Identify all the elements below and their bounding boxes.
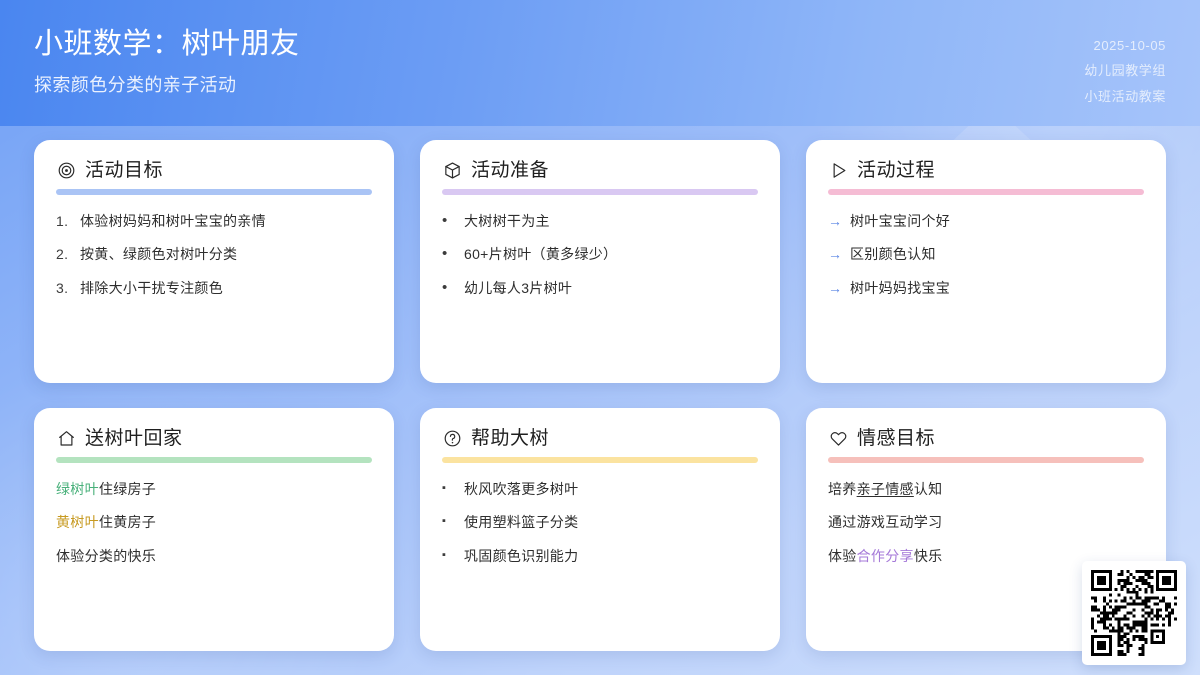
text-segment-plain: 区别颜色认知 xyxy=(850,246,936,262)
card-header: 送树叶回家 xyxy=(56,428,372,448)
text-segment-plain: 按黄、绿颜色对树叶分类 xyxy=(80,246,237,262)
list-item-marker: • xyxy=(442,244,457,264)
card-accent-rule xyxy=(828,457,1144,463)
list-item: ▪巩固颜色识别能力 xyxy=(442,546,758,566)
text-segment-plain: 排除大小干扰专注颜色 xyxy=(80,280,223,296)
text-segment-plain: 体验树妈妈和树叶宝宝的亲情 xyxy=(80,213,266,229)
text-segment-plain: 体验分类的快乐 xyxy=(56,548,156,564)
page-subtitle: 探索颜色分类的亲子活动 xyxy=(34,71,300,97)
card-accent-rule xyxy=(442,189,758,195)
text-segment-plain: 使用塑料篮子分类 xyxy=(464,514,578,530)
list-item: →区别颜色认知 xyxy=(828,244,1144,264)
card-title: 活动准备 xyxy=(471,161,549,180)
card-body: 1.体验树妈妈和树叶宝宝的亲情2.按黄、绿颜色对树叶分类3.排除大小干扰专注颜色 xyxy=(56,211,372,298)
card-title: 帮助大树 xyxy=(471,429,549,448)
card-accent-rule xyxy=(56,457,372,463)
list-item-marker: 1. xyxy=(56,211,73,231)
header-meta-block: 2025-10-05 幼儿园教学组 小班活动教案 xyxy=(1084,26,1166,105)
qr-code-icon xyxy=(1091,570,1177,656)
qr-code-container[interactable] xyxy=(1082,561,1186,665)
list-item-text: 幼儿每人3片树叶 xyxy=(464,278,758,298)
list-item-text: 60+片树叶（黄多绿少） xyxy=(464,244,758,264)
list-item-text: 体验分类的快乐 xyxy=(56,546,372,566)
list-item: ▪秋风吹落更多树叶 xyxy=(442,479,758,499)
meta-organization: 幼儿园教学组 xyxy=(1084,60,1166,79)
card-title: 情感目标 xyxy=(857,429,935,448)
text-segment-amber: 黄树叶 xyxy=(56,514,99,530)
list-item: 1.体验树妈妈和树叶宝宝的亲情 xyxy=(56,211,372,231)
card-accent-rule xyxy=(442,457,758,463)
card-header: 帮助大树 xyxy=(442,428,758,448)
list-item: ▪使用塑料篮子分类 xyxy=(442,512,758,532)
list-item: →树叶妈妈找宝宝 xyxy=(828,278,1144,298)
text-segment-plain: 60+片树叶（黄多绿少） xyxy=(464,246,617,262)
card-activity-goals: 活动目标1.体验树妈妈和树叶宝宝的亲情2.按黄、绿颜色对树叶分类3.排除大小干扰… xyxy=(34,140,394,383)
list-item-marker: • xyxy=(442,211,457,231)
text-segment-plain: 树叶妈妈找宝宝 xyxy=(850,280,950,296)
list-item: 黄树叶住黄房子 xyxy=(56,512,372,532)
text-segment-purple: 合作分享 xyxy=(857,548,914,564)
header-title-block: 小班数学：树叶朋友 探索颜色分类的亲子活动 xyxy=(34,26,300,97)
card-title: 送树叶回家 xyxy=(85,429,183,448)
list-item-marker: ▪ xyxy=(442,512,457,531)
card-body: ▪秋风吹落更多树叶▪使用塑料篮子分类▪巩固颜色识别能力 xyxy=(442,479,758,566)
box-icon xyxy=(442,160,462,180)
card-activity-prep: 活动准备•大树树干为主•60+片树叶（黄多绿少）•幼儿每人3片树叶 xyxy=(420,140,780,383)
list-item-text: 绿树叶住绿房子 xyxy=(56,479,372,499)
card-body: →树叶宝宝问个好→区别颜色认知→树叶妈妈找宝宝 xyxy=(828,211,1144,298)
list-item-marker: 3. xyxy=(56,278,73,298)
target-icon xyxy=(56,160,76,180)
card-header: 活动准备 xyxy=(442,160,758,180)
text-segment-plain: 住黄房子 xyxy=(99,514,156,530)
list-item: •幼儿每人3片树叶 xyxy=(442,278,758,298)
list-item-text: 按黄、绿颜色对树叶分类 xyxy=(80,244,372,264)
list-item: •60+片树叶（黄多绿少） xyxy=(442,244,758,264)
list-item-marker: → xyxy=(828,278,843,298)
card-body: 培养亲子情感认知通过游戏互动学习体验合作分享快乐 xyxy=(828,479,1144,566)
list-item-text: 黄树叶住黄房子 xyxy=(56,512,372,532)
card-send-leaves-home: 送树叶回家绿树叶住绿房子黄树叶住黄房子体验分类的快乐 xyxy=(34,408,394,651)
list-item-text: 培养亲子情感认知 xyxy=(828,479,1144,499)
text-segment-underline: 亲子情感 xyxy=(857,481,914,497)
meta-date: 2025-10-05 xyxy=(1094,38,1167,53)
list-item: 通过游戏互动学习 xyxy=(828,512,1144,532)
page-title: 小班数学：树叶朋友 xyxy=(34,26,300,62)
list-item-text: 使用塑料篮子分类 xyxy=(464,512,758,532)
text-segment-plain: 培养 xyxy=(828,481,857,497)
list-item-text: 巩固颜色识别能力 xyxy=(464,546,758,566)
home-icon xyxy=(56,428,76,448)
list-item: 培养亲子情感认知 xyxy=(828,479,1144,499)
card-help-the-tree: 帮助大树▪秋风吹落更多树叶▪使用塑料篮子分类▪巩固颜色识别能力 xyxy=(420,408,780,651)
text-segment-plain: 幼儿每人3片树叶 xyxy=(464,280,572,296)
text-segment-plain: 巩固颜色识别能力 xyxy=(464,548,578,564)
card-title: 活动过程 xyxy=(857,161,935,180)
text-segment-green: 绿树叶 xyxy=(56,481,99,497)
card-header: 活动过程 xyxy=(828,160,1144,180)
text-segment-plain: 树叶宝宝问个好 xyxy=(850,213,950,229)
text-segment-plain: 秋风吹落更多树叶 xyxy=(464,481,578,497)
card-header: 活动目标 xyxy=(56,160,372,180)
list-item-text: 区别颜色认知 xyxy=(850,244,1144,264)
card-activity-process: 活动过程→树叶宝宝问个好→区别颜色认知→树叶妈妈找宝宝 xyxy=(806,140,1166,383)
card-header: 情感目标 xyxy=(828,428,1144,448)
list-item: →树叶宝宝问个好 xyxy=(828,211,1144,231)
text-segment-plain: 住绿房子 xyxy=(99,481,156,497)
heart-icon xyxy=(828,428,848,448)
list-item-text: 体验树妈妈和树叶宝宝的亲情 xyxy=(80,211,372,231)
list-item-text: 通过游戏互动学习 xyxy=(828,512,1144,532)
list-item-marker: → xyxy=(828,211,843,231)
list-item-marker: ▪ xyxy=(442,546,457,565)
list-item-text: 树叶宝宝问个好 xyxy=(850,211,1144,231)
list-item-text: 秋风吹落更多树叶 xyxy=(464,479,758,499)
list-item: 体验分类的快乐 xyxy=(56,546,372,566)
list-item: 绿树叶住绿房子 xyxy=(56,479,372,499)
card-accent-rule xyxy=(828,189,1144,195)
list-item-marker: ▪ xyxy=(442,479,457,498)
list-item-marker: • xyxy=(442,278,457,298)
list-item-marker: 2. xyxy=(56,244,73,264)
list-item-text: 排除大小干扰专注颜色 xyxy=(80,278,372,298)
list-item-text: 大树树干为主 xyxy=(464,211,758,231)
page-header: 小班数学：树叶朋友 探索颜色分类的亲子活动 2025-10-05 幼儿园教学组 … xyxy=(0,0,1200,126)
list-item: •大树树干为主 xyxy=(442,211,758,231)
question-circle-icon xyxy=(442,428,462,448)
text-segment-plain: 体验 xyxy=(828,548,857,564)
card-grid: 活动目标1.体验树妈妈和树叶宝宝的亲情2.按黄、绿颜色对树叶分类3.排除大小干扰… xyxy=(34,140,1166,651)
play-icon xyxy=(828,160,848,180)
card-body: •大树树干为主•60+片树叶（黄多绿少）•幼儿每人3片树叶 xyxy=(442,211,758,298)
text-segment-plain: 通过游戏互动学习 xyxy=(828,514,942,530)
card-accent-rule xyxy=(56,189,372,195)
card-title: 活动目标 xyxy=(85,161,163,180)
meta-doc-type: 小班活动教案 xyxy=(1084,86,1166,105)
card-body: 绿树叶住绿房子黄树叶住黄房子体验分类的快乐 xyxy=(56,479,372,566)
list-item-marker: → xyxy=(828,244,843,264)
list-item: 3.排除大小干扰专注颜色 xyxy=(56,278,372,298)
list-item: 2.按黄、绿颜色对树叶分类 xyxy=(56,244,372,264)
text-segment-plain: 大树树干为主 xyxy=(464,213,550,229)
text-segment-plain: 快乐 xyxy=(914,548,943,564)
text-segment-plain: 认知 xyxy=(914,481,943,497)
list-item-text: 树叶妈妈找宝宝 xyxy=(850,278,1144,298)
